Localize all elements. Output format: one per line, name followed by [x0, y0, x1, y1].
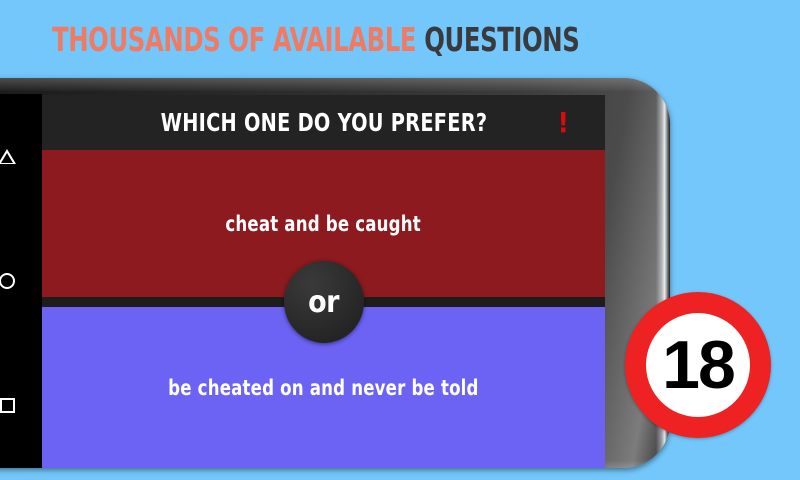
app-screen: WHICH ONE DO YOU PREFER? ! cheat and be …	[42, 95, 605, 468]
or-separator-badge: or	[284, 261, 364, 343]
android-navigation-bar	[0, 94, 42, 468]
nav-home-button[interactable]	[0, 270, 18, 292]
square-recents-icon	[0, 398, 15, 413]
promo-banner: THOUSANDS OF AVAILABLE QUESTIONS WHICH O…	[0, 0, 800, 480]
app-bar: WHICH ONE DO YOU PREFER? !	[42, 95, 605, 150]
phone-top-highlight	[0, 78, 670, 91]
age-rating-inner-circle: 18	[646, 313, 750, 417]
age-rating-value: 18	[662, 331, 734, 399]
promo-headline: THOUSANDS OF AVAILABLE QUESTIONS	[52, 20, 579, 60]
phone-mockup: WHICH ONE DO YOU PREFER? ! cheat and be …	[0, 78, 670, 468]
nav-recents-button[interactable]	[0, 395, 18, 417]
question-options: cheat and be caught be cheated on and ne…	[42, 150, 605, 468]
circle-home-icon	[0, 273, 15, 289]
triangle-back-icon	[0, 149, 16, 164]
promo-headline-highlight: THOUSANDS OF AVAILABLE	[52, 20, 424, 59]
age-rating-badge: 18	[625, 292, 771, 438]
app-bar-title: WHICH ONE DO YOU PREFER?	[160, 108, 487, 137]
option-a-label: cheat and be caught	[226, 212, 422, 236]
promo-headline-rest: QUESTIONS	[424, 20, 579, 59]
alert-icon[interactable]: !	[558, 109, 569, 137]
option-b-label: be cheated on and never be told	[168, 376, 478, 400]
or-separator-label: or	[308, 285, 339, 320]
nav-back-button[interactable]	[0, 145, 18, 167]
